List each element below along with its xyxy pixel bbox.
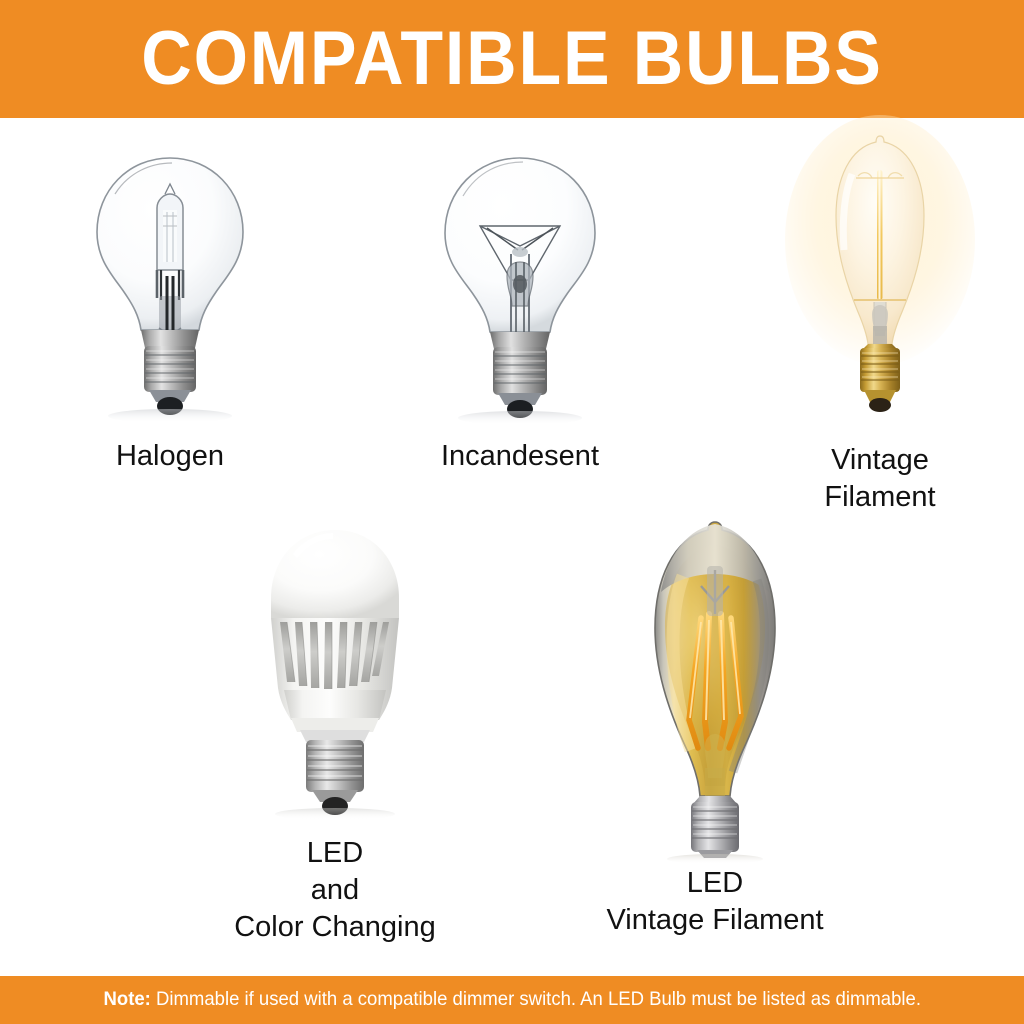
led-vintage-filament-bulb-stage: [555, 510, 875, 860]
bulb-caption-led: LED and Color Changing: [185, 835, 485, 946]
led-vintage-filament-bulb-icon: [605, 510, 825, 860]
bulb-caption-halogen: Halogen: [20, 438, 320, 475]
bulb-card-halogen: Halogen: [20, 150, 320, 510]
page-title: COMPATIBLE BULBS: [141, 21, 883, 97]
bulb-caption-incandesent: Incandesent: [370, 438, 670, 475]
vintage-filament-bulb-stage: [730, 130, 1024, 430]
vintage-filament-bulb-icon: [790, 130, 970, 430]
bulb-card-incandesent: Incandesent: [370, 150, 670, 510]
incandesent-bulb-stage: [370, 150, 670, 425]
bulb-card-led: LED and Color Changing: [185, 520, 485, 970]
bulb-card-vintage-filament: Vintage Filament: [730, 130, 1024, 530]
halogen-bulb-icon: [75, 150, 265, 425]
footer-note: Note: Dimmable if used with a compatible…: [103, 990, 920, 1010]
footer-note-text: Dimmable if used with a compatible dimme…: [151, 988, 921, 1010]
halogen-bulb-stage: [20, 150, 320, 425]
bulb-card-led-vintage-filament: LED Vintage Filament: [555, 510, 875, 970]
bulb-caption-vintage-filament: Vintage Filament: [730, 442, 1024, 516]
led-bulb-icon: [240, 520, 430, 820]
led-bulb-stage: [185, 520, 485, 820]
incandescent-bulb-icon: [425, 150, 615, 425]
footer-note-bar: Note: Dimmable if used with a compatible…: [0, 976, 1024, 1024]
compatible-bulbs-infographic: COMPATIBLE BULBS: [0, 0, 1024, 1024]
header-bar: COMPATIBLE BULBS: [0, 0, 1024, 118]
footer-note-label: Note:: [103, 988, 150, 1010]
bulb-caption-led-vintage-filament: LED Vintage Filament: [555, 865, 875, 939]
